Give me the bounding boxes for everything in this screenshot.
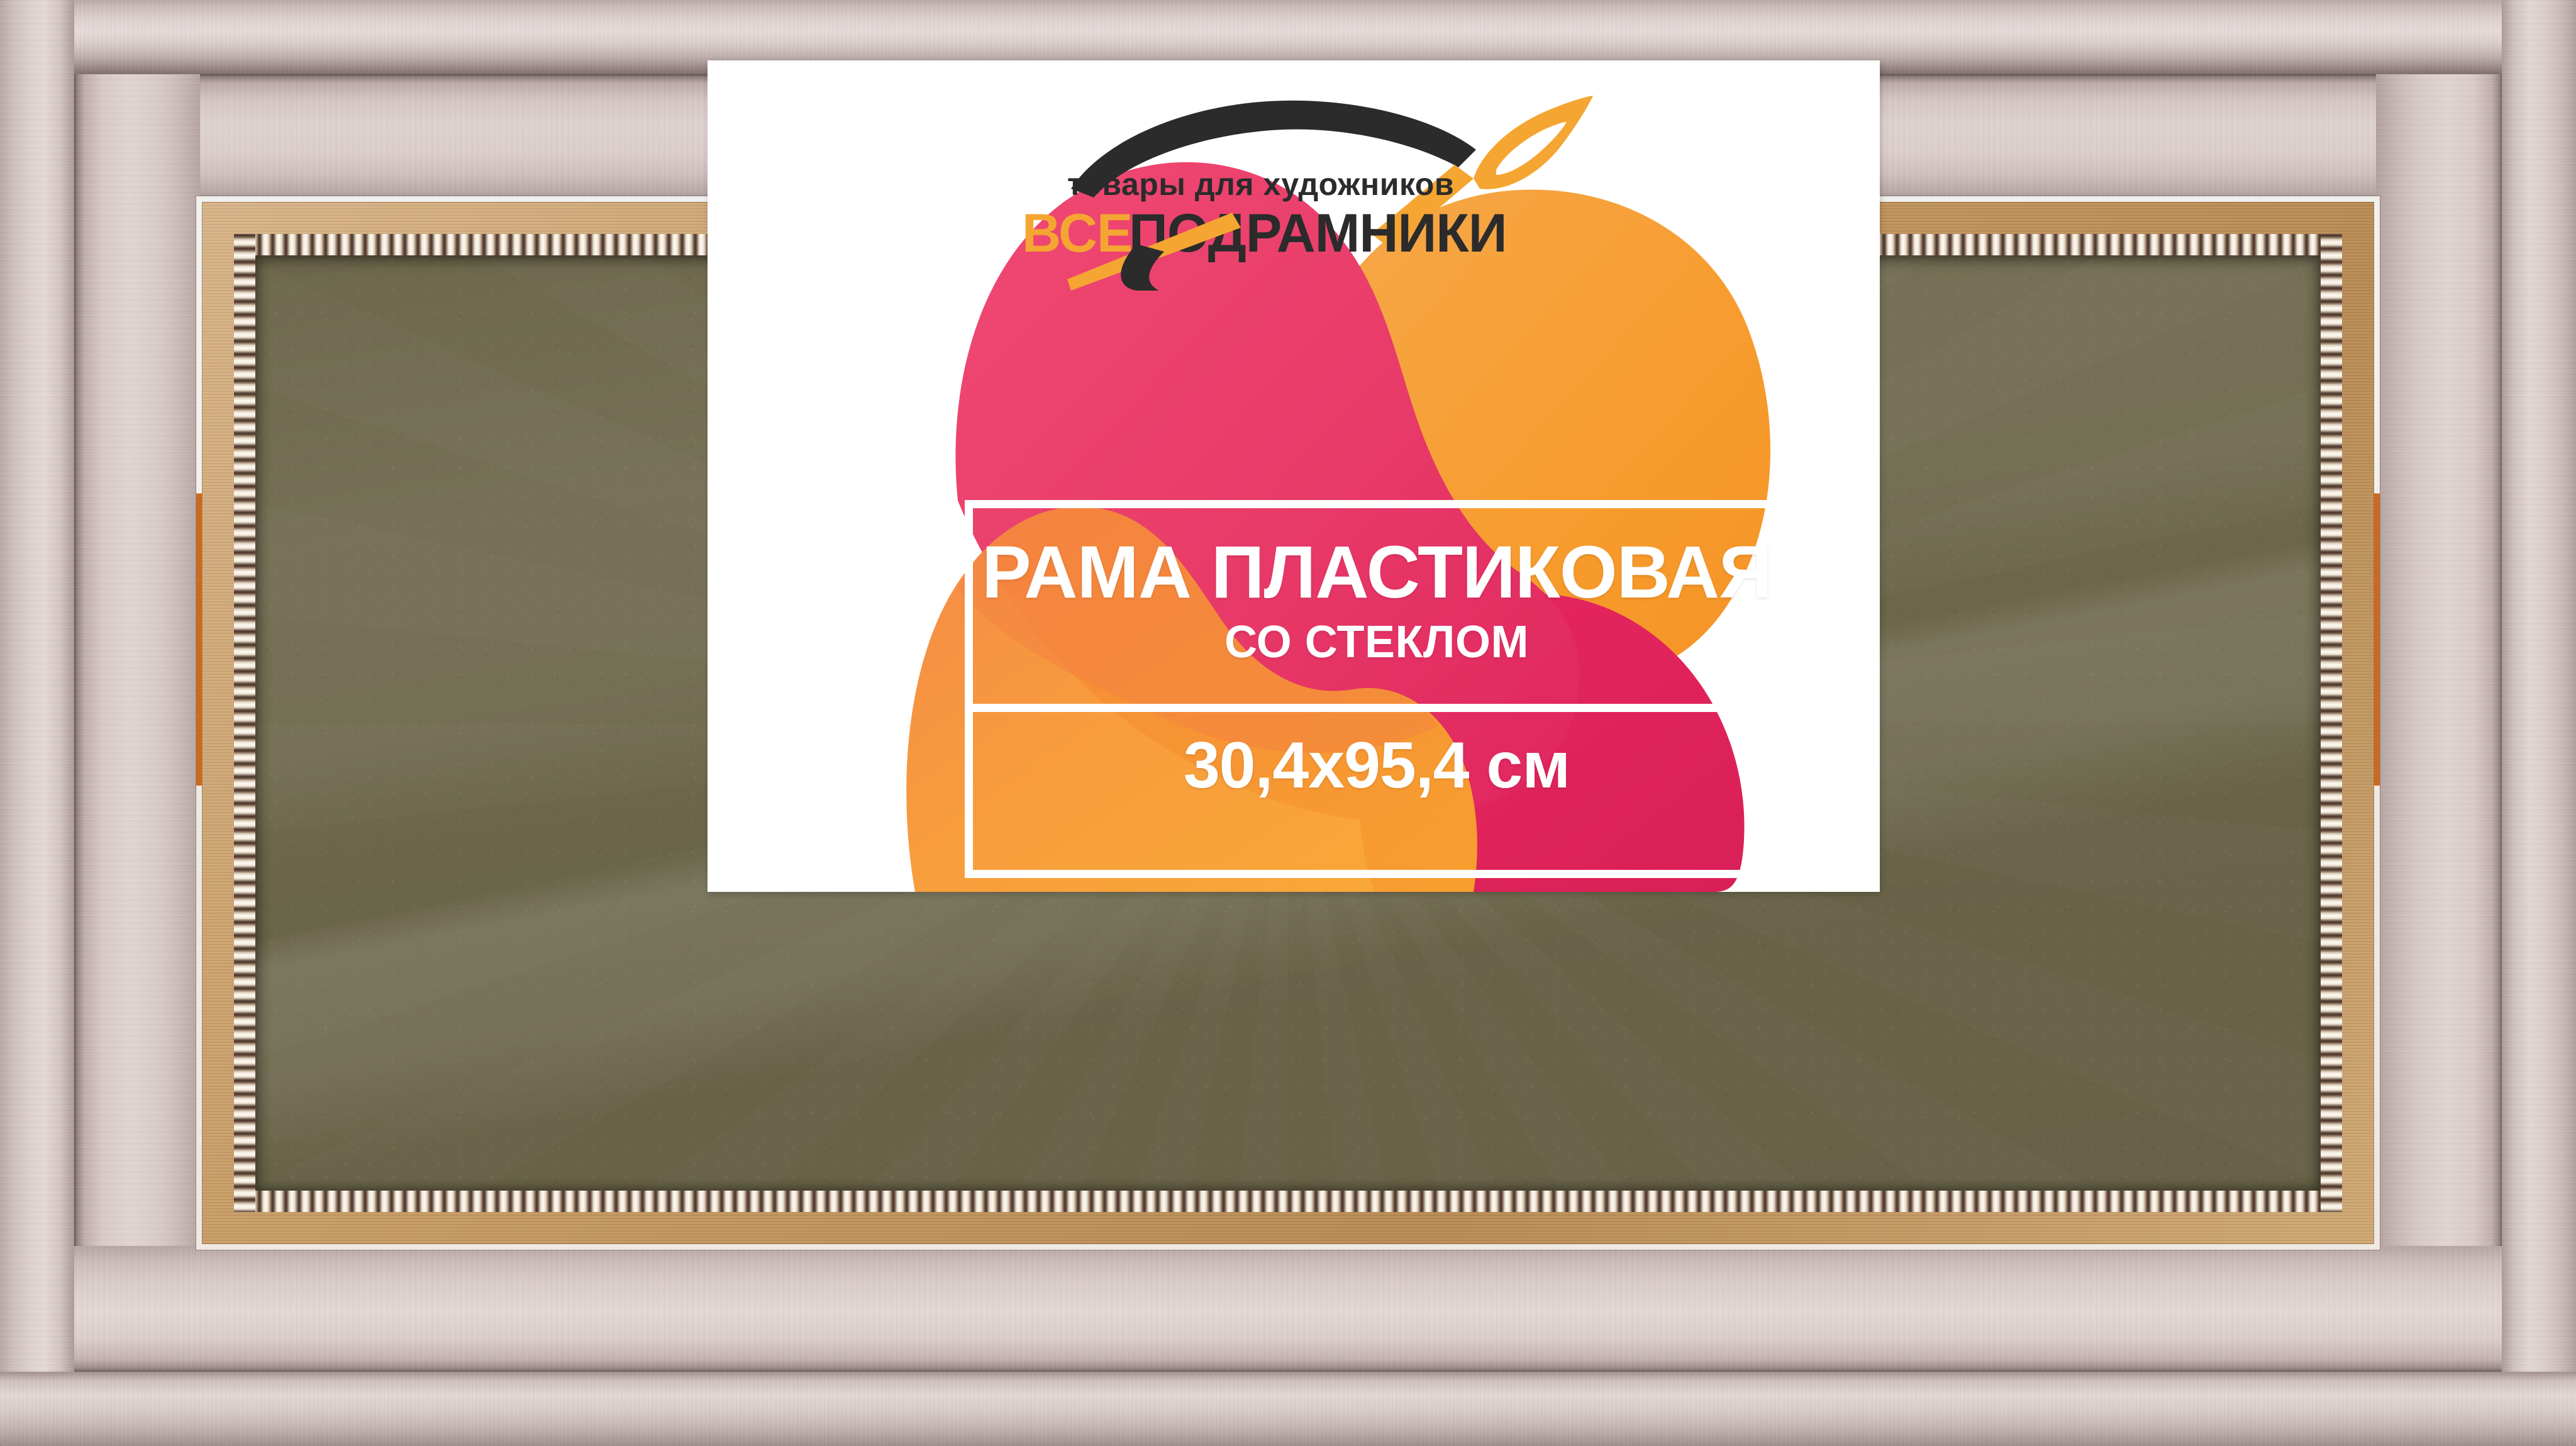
brand-logo-svg: товары для художников ВСЕ ПОДРАМНИКИ [948,83,1640,291]
brand-tagline: товары для художников [1067,167,1454,202]
brand-wordmark-accent: ВСЕ [1022,203,1132,264]
bead-run-right [2321,234,2342,1212]
frame-moulding-bottom-bevel [0,1372,2576,1446]
frame-moulding-right-face [2376,74,2502,1372]
brand-logo: товары для художников ВСЕ ПОДРАМНИКИ [708,83,1880,309]
frame-moulding-right-bevel [2502,0,2576,1446]
label-size-outline-box [965,712,1789,878]
frame-moulding-left-face [74,74,200,1372]
bead-run-bottom [234,1191,2342,1212]
frame-moulding-bottom-face [74,1246,2502,1372]
frame-moulding-left-bevel [0,0,74,1446]
bead-run-left [234,234,255,1212]
label-title-outline-box [965,500,1789,712]
product-label-sticker: товары для художников ВСЕ ПОДРАМНИКИ РАМ… [708,60,1880,892]
framed-frame-product: товары для художников ВСЕ ПОДРАМНИКИ РАМ… [0,0,2576,1446]
